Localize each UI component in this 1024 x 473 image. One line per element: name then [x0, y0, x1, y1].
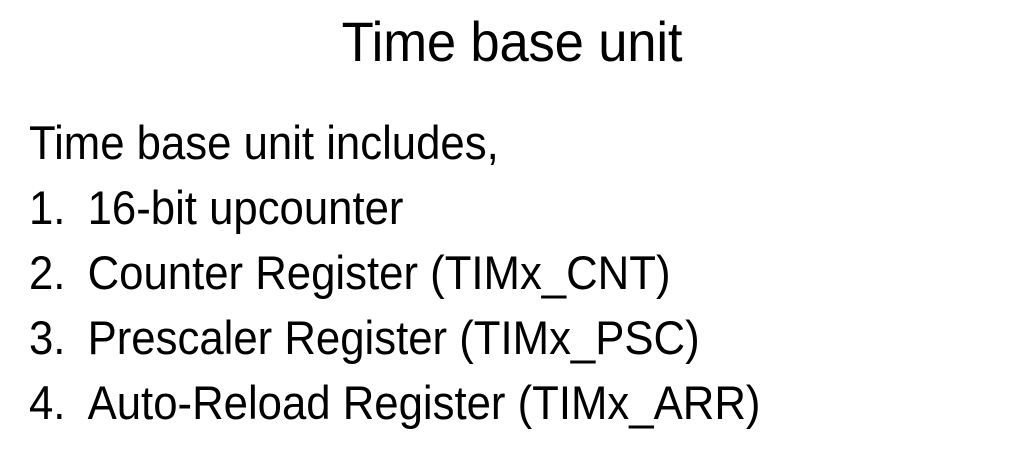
- list-item-label: Auto-Reload Register (TIMx_ARR): [88, 370, 761, 435]
- list-item-marker: 3.: [29, 305, 88, 370]
- list-item: 1. 16-bit upcounter: [29, 175, 922, 240]
- list-item: 4. Auto-Reload Register (TIMx_ARR): [29, 370, 922, 435]
- slide-canvas: Time base unit Time base unit includes, …: [0, 0, 1024, 473]
- body-intro-line: Time base unit includes,: [29, 110, 922, 175]
- list-item-marker: 4.: [29, 370, 88, 435]
- list-item-marker: 2.: [29, 240, 88, 305]
- list-item-label: Prescaler Register (TIMx_PSC): [88, 305, 700, 370]
- list-item: 3. Prescaler Register (TIMx_PSC): [29, 305, 922, 370]
- page-title: Time base unit: [31, 6, 994, 78]
- list-item-marker: 1.: [29, 175, 88, 240]
- list-item: 2. Counter Register (TIMx_CNT): [29, 240, 922, 305]
- numbered-list: 1. 16-bit upcounter 2. Counter Register …: [29, 175, 989, 435]
- slide-body: Time base unit includes, 1. 16-bit upcou…: [29, 110, 989, 435]
- list-item-label: 16-bit upcounter: [88, 175, 404, 240]
- list-item-label: Counter Register (TIMx_CNT): [88, 240, 671, 305]
